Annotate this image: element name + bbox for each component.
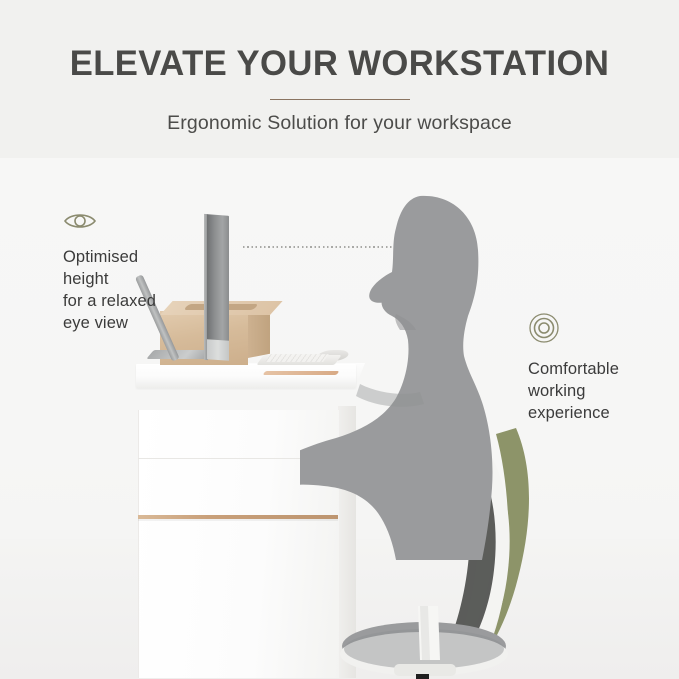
- promo-banner: ELEVATE YOUR WORKSTATION Ergonomic Solut…: [0, 0, 679, 679]
- annotation-optimised-height-text: Optimised height for a relaxed eye view: [63, 247, 223, 335]
- page-title: ELEVATE YOUR WORKSTATION: [3, 44, 675, 84]
- page-subtitle: Ergonomic Solution for your workspace: [0, 112, 679, 135]
- concentric-circles-icon: [528, 312, 678, 349]
- monitor-chin: [207, 339, 229, 361]
- eye-icon: [63, 210, 223, 237]
- annotation-comfortable-working-text: Comfortable working experience: [528, 359, 678, 425]
- title-divider: [270, 99, 410, 100]
- annotation-comfortable-working: Comfortable working experience: [528, 312, 678, 425]
- header-band: ELEVATE YOUR WORKSTATION Ergonomic Solut…: [0, 0, 679, 158]
- person-body: [300, 196, 493, 560]
- chair-gas-cylinder: [416, 674, 429, 679]
- annotation-optimised-height: Optimised height for a relaxed eye view: [63, 210, 223, 335]
- person-face-profile: [369, 272, 392, 303]
- person-silhouette: [300, 188, 530, 608]
